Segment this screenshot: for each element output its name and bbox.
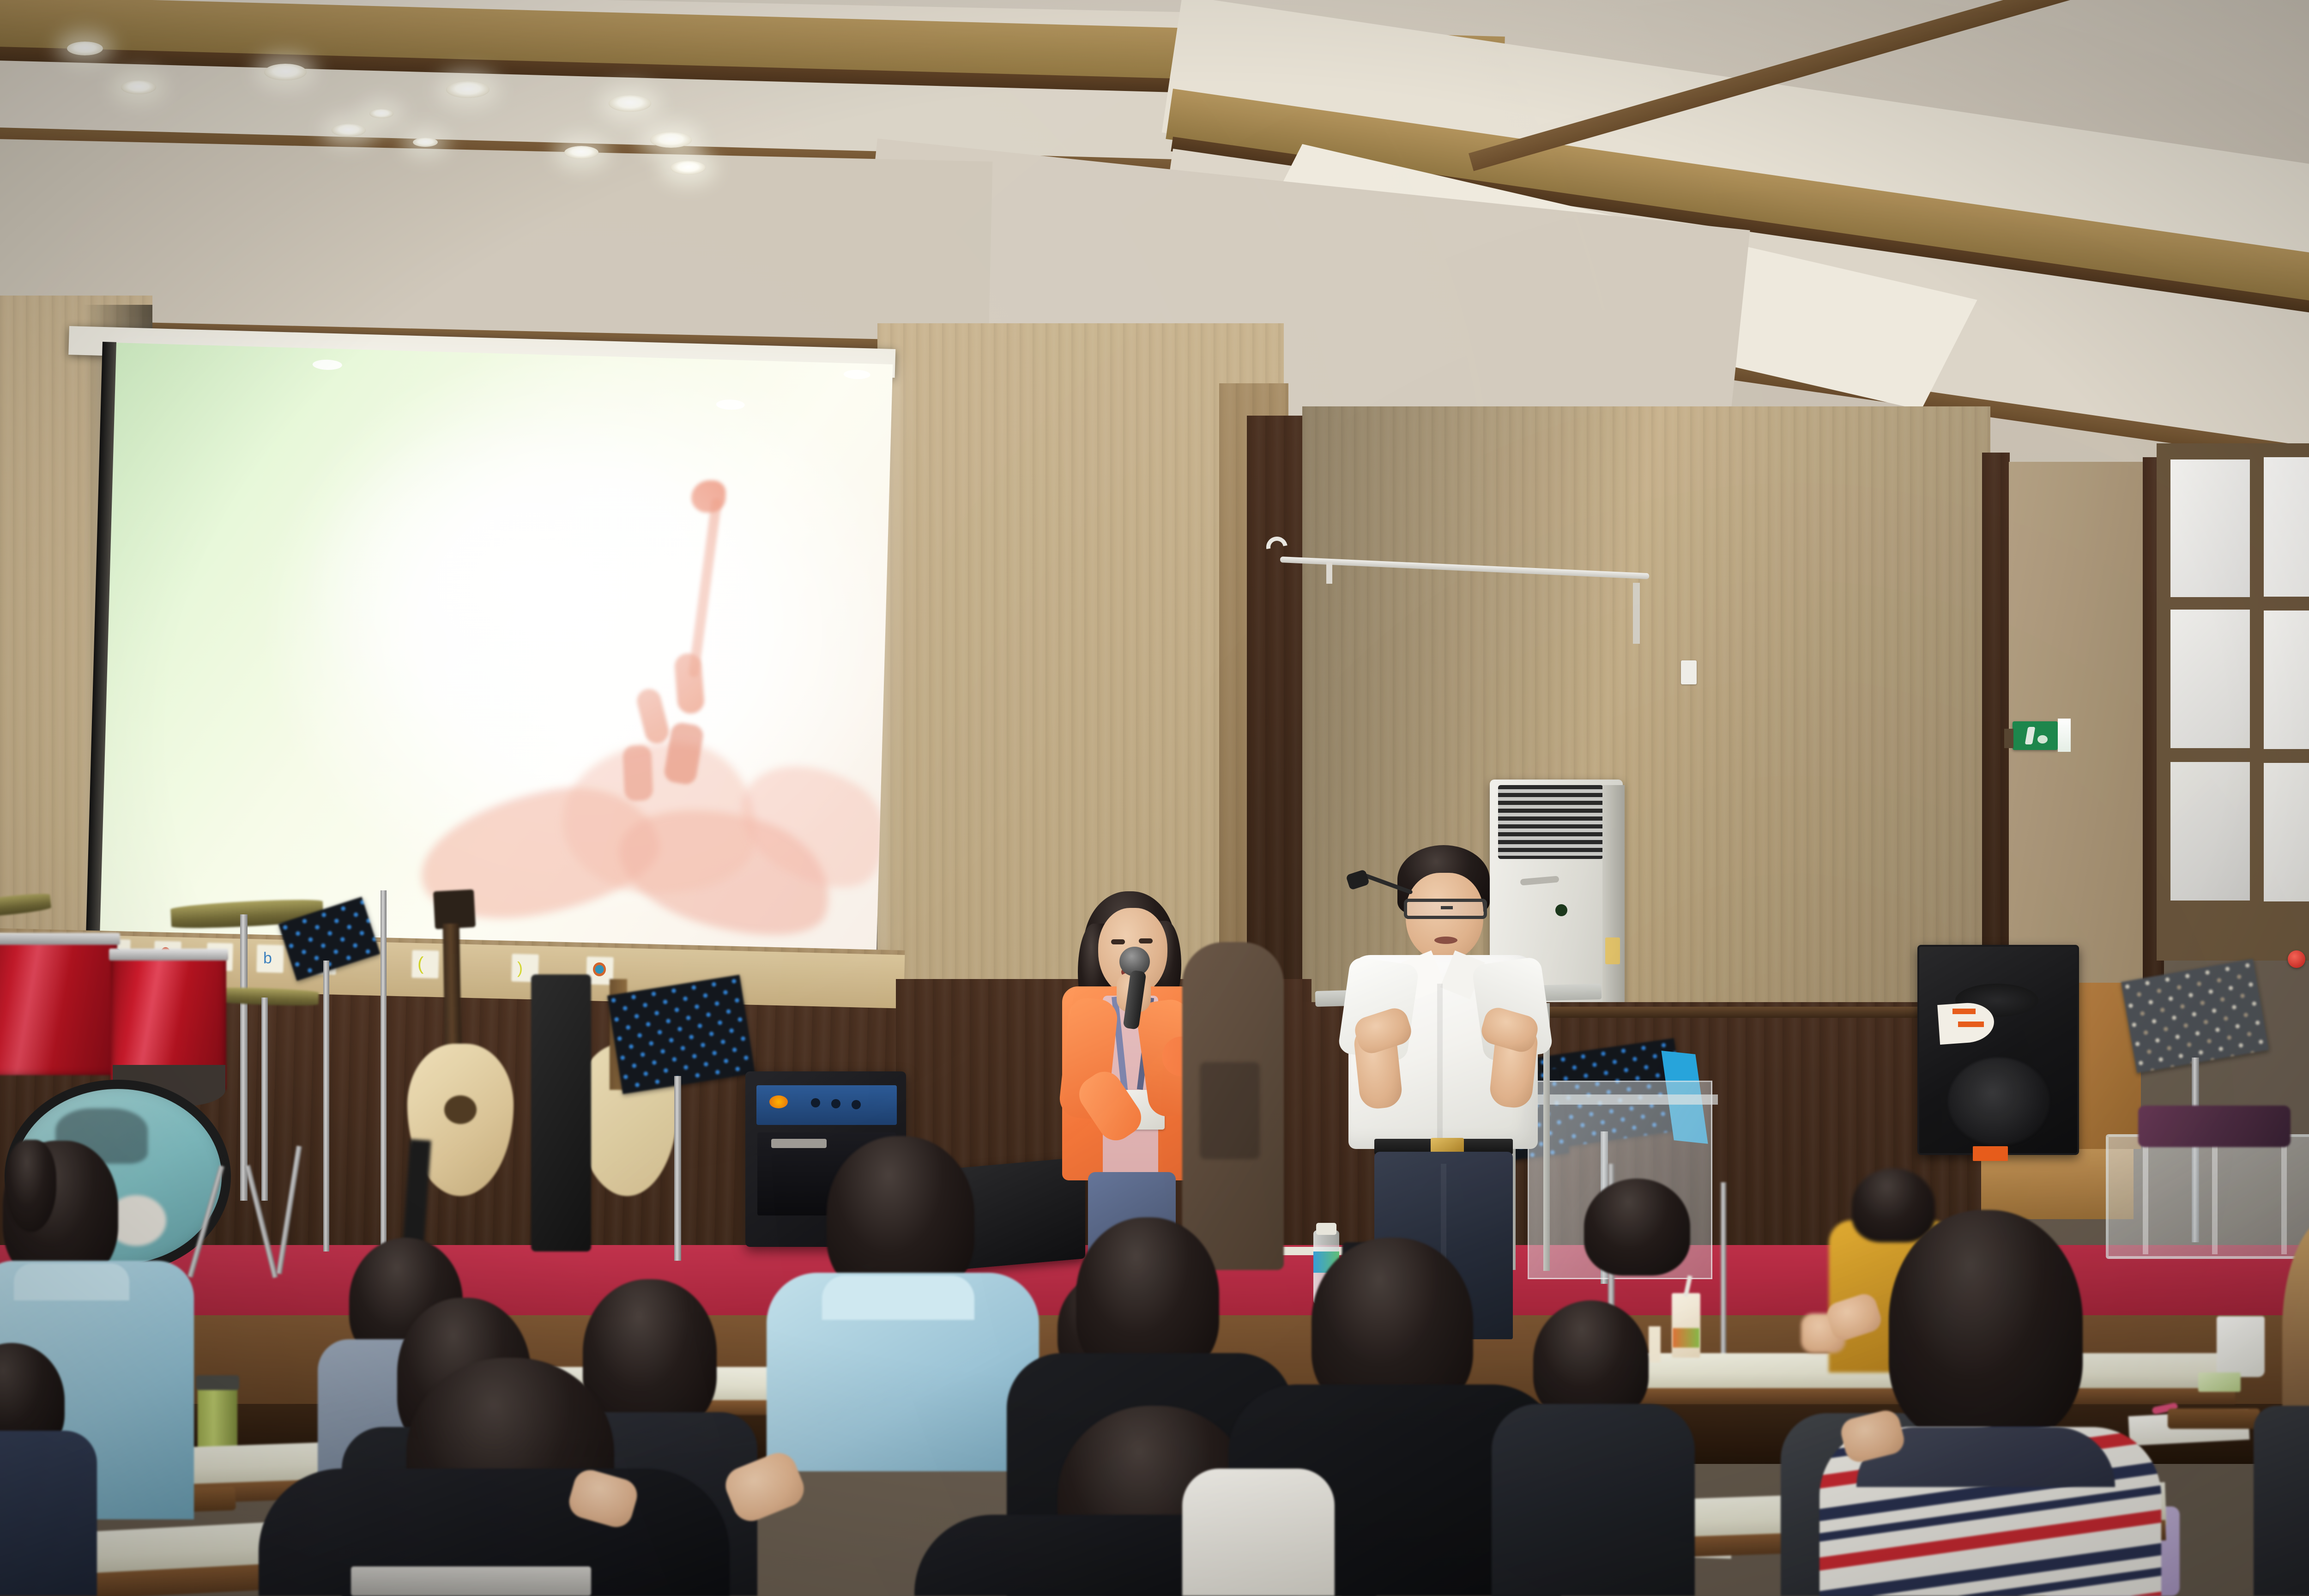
juice-carton-3 xyxy=(1649,1326,1661,1362)
cymbal-stand-ride xyxy=(240,914,248,1201)
juice-carton-1 xyxy=(1672,1293,1700,1358)
decor-panel-cell-1 xyxy=(2170,459,2250,597)
downlight-10 xyxy=(650,132,692,148)
wall-switch-plate[interactable] xyxy=(1681,660,1697,684)
decor-tile-6-glyph: ( xyxy=(417,954,433,973)
green-tumbler-lid xyxy=(196,1375,239,1390)
audience-body-navy-left xyxy=(0,1431,97,1596)
pa-speaker-jbl-logo xyxy=(1973,1146,2008,1161)
drum-tom-1 xyxy=(0,937,117,1075)
photo-scene: e ❁ b ( ) xyxy=(0,0,2309,1596)
guitar-amplifier-power-lamp xyxy=(769,1095,788,1108)
woman-eye-left xyxy=(1111,939,1125,944)
paper-cup-1 xyxy=(2217,1316,2265,1377)
pa-speaker-woofer xyxy=(1948,1058,2049,1145)
downlight-8 xyxy=(609,95,651,112)
audience-whitetee-shoulder xyxy=(1182,1469,1335,1596)
exit-sign-arrow-icon xyxy=(2037,735,2048,744)
downlight-6 xyxy=(413,138,438,147)
mic-stand-left xyxy=(381,890,387,1251)
exit-sign-light-strip xyxy=(2058,719,2071,752)
decor-tile-7-glyph: ) xyxy=(517,959,533,977)
storage-crate xyxy=(2106,1134,2309,1259)
audience-hoodie-print xyxy=(351,1566,591,1596)
decor-panel-cell-4 xyxy=(2264,611,2309,749)
chair-back-4 xyxy=(2168,1409,2260,1429)
decor-panel-cell-6 xyxy=(2264,763,2309,901)
projector-hotspot xyxy=(297,404,768,768)
music-stand-left-pole xyxy=(323,961,329,1251)
decor-panel-cell-2 xyxy=(2264,457,2309,597)
storage-crate-rib-3 xyxy=(2281,1139,2287,1254)
guitar-case-pocket xyxy=(1200,1062,1260,1159)
mic-stand-far-right xyxy=(1721,1182,1726,1367)
screen-label: Pull-down projection screen xyxy=(0,0,6,0)
cymbal-stand-hihat xyxy=(261,997,268,1201)
screen-reflection-light-1 xyxy=(313,359,343,370)
audience-polo-collar xyxy=(14,1263,129,1300)
screen-reflection-light-3 xyxy=(843,369,870,380)
downlight-2 xyxy=(121,80,156,94)
pa-speaker-note-mark-1 xyxy=(1952,1009,1976,1014)
downlight-7 xyxy=(446,81,490,98)
audience-head-striped xyxy=(1889,1210,2083,1441)
decor-tile-8-glyph xyxy=(593,962,606,976)
pa-speaker-note-mark-2 xyxy=(1958,1022,1984,1027)
storage-crate-rib-2 xyxy=(2212,1139,2218,1254)
eyeglasses-bridge xyxy=(1441,906,1453,909)
projection-screen xyxy=(98,343,893,959)
music-stand-blue-dots-plate xyxy=(607,975,755,1094)
tissue-box xyxy=(2198,1372,2241,1392)
audience-polo-center-collar xyxy=(822,1276,974,1320)
guitar-amplifier-knob-3 xyxy=(852,1100,861,1109)
curtain-rod-bracket-1 xyxy=(1326,562,1332,584)
guitar-amplifier-knob-1 xyxy=(811,1098,820,1107)
exit-sign xyxy=(2013,721,2058,750)
storage-crate-rib-1 xyxy=(2143,1139,2148,1254)
downlight-3 xyxy=(264,64,307,80)
downlight-1 xyxy=(67,42,103,55)
guitar-amplifier-handle xyxy=(771,1139,827,1148)
downlight-4 xyxy=(332,124,366,137)
guitar-2-case xyxy=(531,974,591,1251)
curtain-rod-bracket-2 xyxy=(1633,583,1640,644)
bag-on-bench xyxy=(2138,1106,2291,1147)
audience-body-right-dark xyxy=(1492,1404,1695,1596)
door-recess xyxy=(1982,453,2010,970)
downlight-5 xyxy=(369,109,393,118)
decor-tile-4-glyph: b xyxy=(263,949,277,967)
guitar-amplifier-knob-2 xyxy=(831,1099,840,1108)
audience-head-right-dark xyxy=(1533,1300,1649,1421)
man-shirt-placket xyxy=(1437,984,1443,1143)
downlight-11 xyxy=(671,161,706,175)
juice-carton-1-graphic xyxy=(1673,1328,1699,1348)
man-mouth xyxy=(1434,937,1457,944)
air-conditioner-label xyxy=(1605,937,1620,964)
exit-sign-bracket xyxy=(2004,729,2013,748)
audience-ponytail xyxy=(6,1140,56,1232)
decor-panel-cell-3 xyxy=(2170,610,2250,748)
wall-divider-column xyxy=(1247,416,1307,1007)
audience-body-blonde xyxy=(2254,1406,2309,1596)
headset-microphone-capsule-icon xyxy=(1346,869,1370,890)
water-bottle-cap xyxy=(1316,1223,1336,1235)
woman-eye-right xyxy=(1139,938,1153,943)
decor-panel-cell-5 xyxy=(2170,762,2250,901)
drum-tom-2-rim-top xyxy=(109,949,228,961)
projected-flower-anther-4 xyxy=(623,745,653,801)
screen-reflection-light-2 xyxy=(716,399,745,410)
music-stand-blue-dots-pole xyxy=(674,1076,681,1261)
audience-head-charcoal xyxy=(1584,1179,1690,1276)
emergency-button-icon[interactable] xyxy=(2288,950,2305,968)
guitar-soundhole xyxy=(444,1095,477,1124)
audience-head-mustard xyxy=(1852,1168,1935,1242)
drum-tom-1-rim-top xyxy=(0,933,120,945)
downlight-9 xyxy=(564,146,598,159)
